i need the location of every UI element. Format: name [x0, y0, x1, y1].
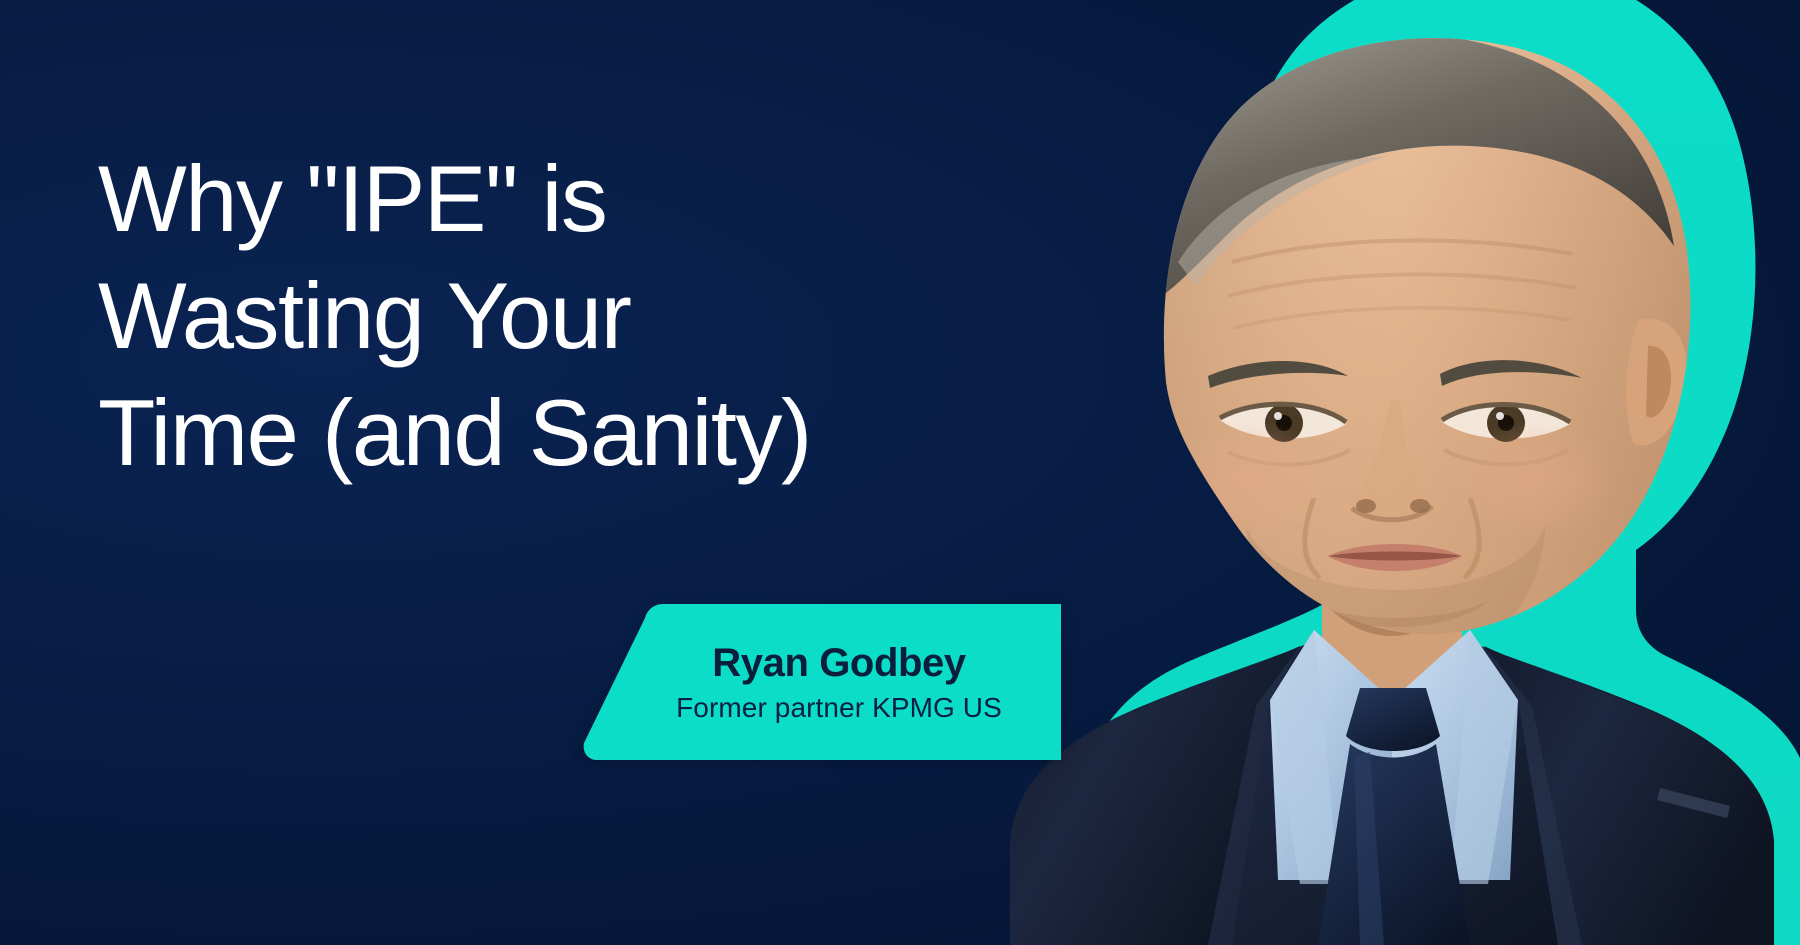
headline-block: Why "IPE" is Wasting Your Time (and Sani…	[98, 140, 998, 491]
badge-text-group: Ryan Godbey Former partner KPMG US	[583, 604, 1061, 760]
headline-line-2: Wasting Your	[98, 257, 998, 374]
speaker-badge: Ryan Godbey Former partner KPMG US	[583, 604, 1061, 760]
speaker-name: Ryan Godbey	[712, 638, 965, 688]
headline-line-3: Time (and Sanity)	[98, 374, 998, 491]
headline-line-1: Why "IPE" is	[98, 140, 998, 257]
speaker-role: Former partner KPMG US	[676, 690, 1002, 726]
presentation-slide: Why "IPE" is Wasting Your Time (and Sani…	[0, 0, 1800, 945]
speaker-photo	[970, 0, 1800, 945]
portrait-region	[970, 0, 1800, 945]
